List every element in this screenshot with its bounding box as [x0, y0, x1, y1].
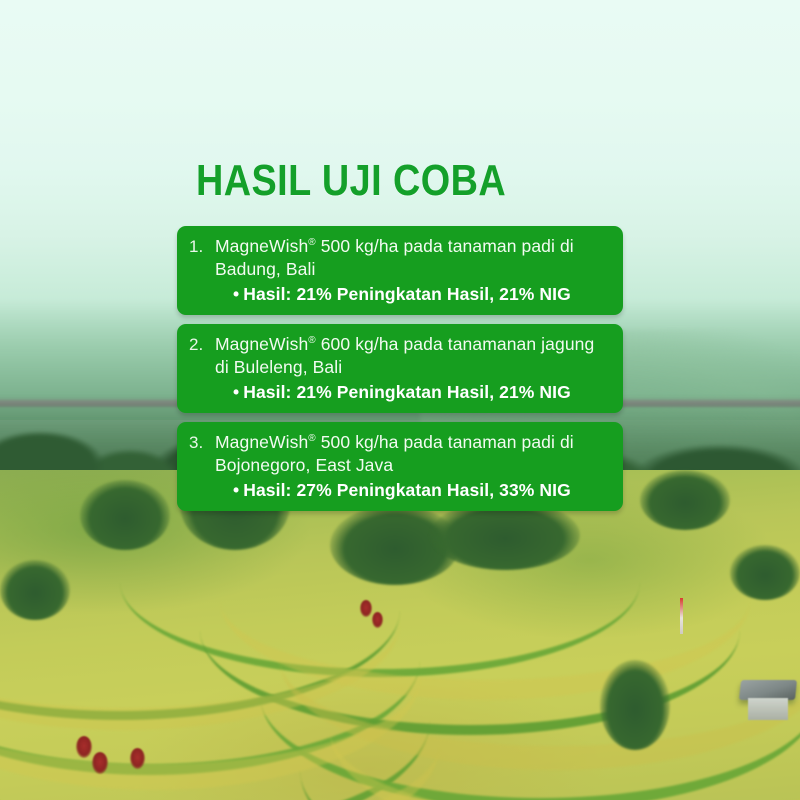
result-value: 27% Peningkatan Hasil, 33% NIG	[296, 480, 570, 500]
result-value: 21% Peningkatan Hasil, 21% NIG	[296, 382, 570, 402]
trial-result: •Hasil: 21% Peningkatan Hasil, 21% NIG	[189, 381, 611, 404]
registered-mark-icon: ®	[308, 237, 315, 248]
overlay-content: HASIL UJI COBA 1. MagneWish® 500 kg/ha p…	[0, 0, 800, 800]
result-label: Hasil:	[243, 382, 291, 402]
trial-card-header: 2. MagneWish® 600 kg/ha pada tanamanan j…	[189, 333, 611, 379]
trial-card: 3. MagneWish® 500 kg/ha pada tanaman pad…	[177, 422, 623, 511]
result-label: Hasil:	[243, 284, 291, 304]
trial-card-header: 1. MagneWish® 500 kg/ha pada tanaman pad…	[189, 235, 611, 281]
product-name: MagneWish	[215, 334, 308, 354]
trial-description: MagneWish® 500 kg/ha pada tanaman padi d…	[215, 431, 611, 477]
bullet-icon: •	[233, 480, 239, 500]
trial-description: MagneWish® 500 kg/ha pada tanaman padi d…	[215, 235, 611, 281]
trial-result: •Hasil: 21% Peningkatan Hasil, 21% NIG	[189, 283, 611, 306]
trial-card-header: 3. MagneWish® 500 kg/ha pada tanaman pad…	[189, 431, 611, 477]
trial-results-list: 1. MagneWish® 500 kg/ha pada tanaman pad…	[177, 226, 623, 520]
trial-number: 2.	[189, 333, 215, 356]
trial-number: 1.	[189, 235, 215, 258]
registered-mark-icon: ®	[308, 335, 315, 346]
registered-mark-icon: ®	[308, 433, 315, 444]
trial-description: MagneWish® 600 kg/ha pada tanamanan jagu…	[215, 333, 611, 379]
product-name: MagneWish	[215, 236, 308, 256]
page-title: HASIL UJI COBA	[196, 159, 506, 203]
trial-card: 2. MagneWish® 600 kg/ha pada tanamanan j…	[177, 324, 623, 413]
result-label: Hasil:	[243, 480, 291, 500]
result-value: 21% Peningkatan Hasil, 21% NIG	[296, 284, 570, 304]
bullet-icon: •	[233, 382, 239, 402]
trial-number: 3.	[189, 431, 215, 454]
bullet-icon: •	[233, 284, 239, 304]
trial-card: 1. MagneWish® 500 kg/ha pada tanaman pad…	[177, 226, 623, 315]
trial-result: •Hasil: 27% Peningkatan Hasil, 33% NIG	[189, 479, 611, 502]
slide-canvas: HASIL UJI COBA 1. MagneWish® 500 kg/ha p…	[0, 0, 800, 800]
product-name: MagneWish	[215, 432, 308, 452]
